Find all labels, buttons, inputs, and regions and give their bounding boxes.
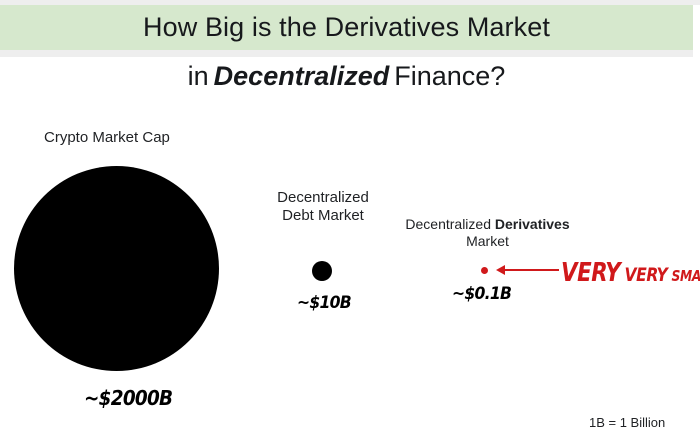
derivatives-label-suffix: Market	[466, 233, 509, 249]
bubble-decentralized-derivatives-market	[481, 267, 488, 274]
page-title-line-2: in Decentralized Finance?	[0, 57, 693, 95]
bubble-label-crypto-market-cap: Crypto Market Cap	[44, 129, 224, 147]
annotation-very-very-small: VERY VERY SMALL	[561, 258, 700, 288]
bubble-value-decentralized-debt-market: ~$10B	[297, 293, 351, 313]
bubble-crypto-market-cap	[14, 166, 219, 371]
title-bottom-strip	[0, 50, 693, 57]
annotation-word-small: SMALL	[672, 267, 700, 285]
title-line2-emphasis: Decentralized	[209, 61, 395, 92]
page-title-line-1: How Big is the Derivatives Market	[0, 5, 693, 50]
bubble-label-decentralized-debt-market: Decentralized Debt Market	[252, 189, 394, 226]
bubble-value-decentralized-derivatives-market: ~$0.1B	[452, 284, 511, 304]
derivatives-label-bold: Derivatives	[495, 216, 570, 232]
bubble-value-crypto-market-cap: ~$2000B	[84, 386, 172, 410]
infographic-canvas: How Big is the Derivatives Market in Dec…	[0, 0, 700, 441]
arrow-line-icon	[505, 269, 559, 271]
arrow-head-icon	[496, 265, 505, 275]
title-line2-prefix: in	[188, 61, 209, 92]
title-line2-suffix: Finance?	[394, 61, 505, 92]
annotation-word-large: VERY	[561, 258, 620, 288]
footnote-unit-note: 1B = 1 Billion	[589, 415, 665, 430]
annotation-word-medium: VERY	[624, 264, 667, 286]
bubble-label-decentralized-derivatives-market: Decentralized DerivativesMarket	[385, 216, 590, 250]
bubble-decentralized-debt-market	[312, 261, 332, 281]
derivatives-label-prefix: Decentralized	[405, 216, 495, 232]
